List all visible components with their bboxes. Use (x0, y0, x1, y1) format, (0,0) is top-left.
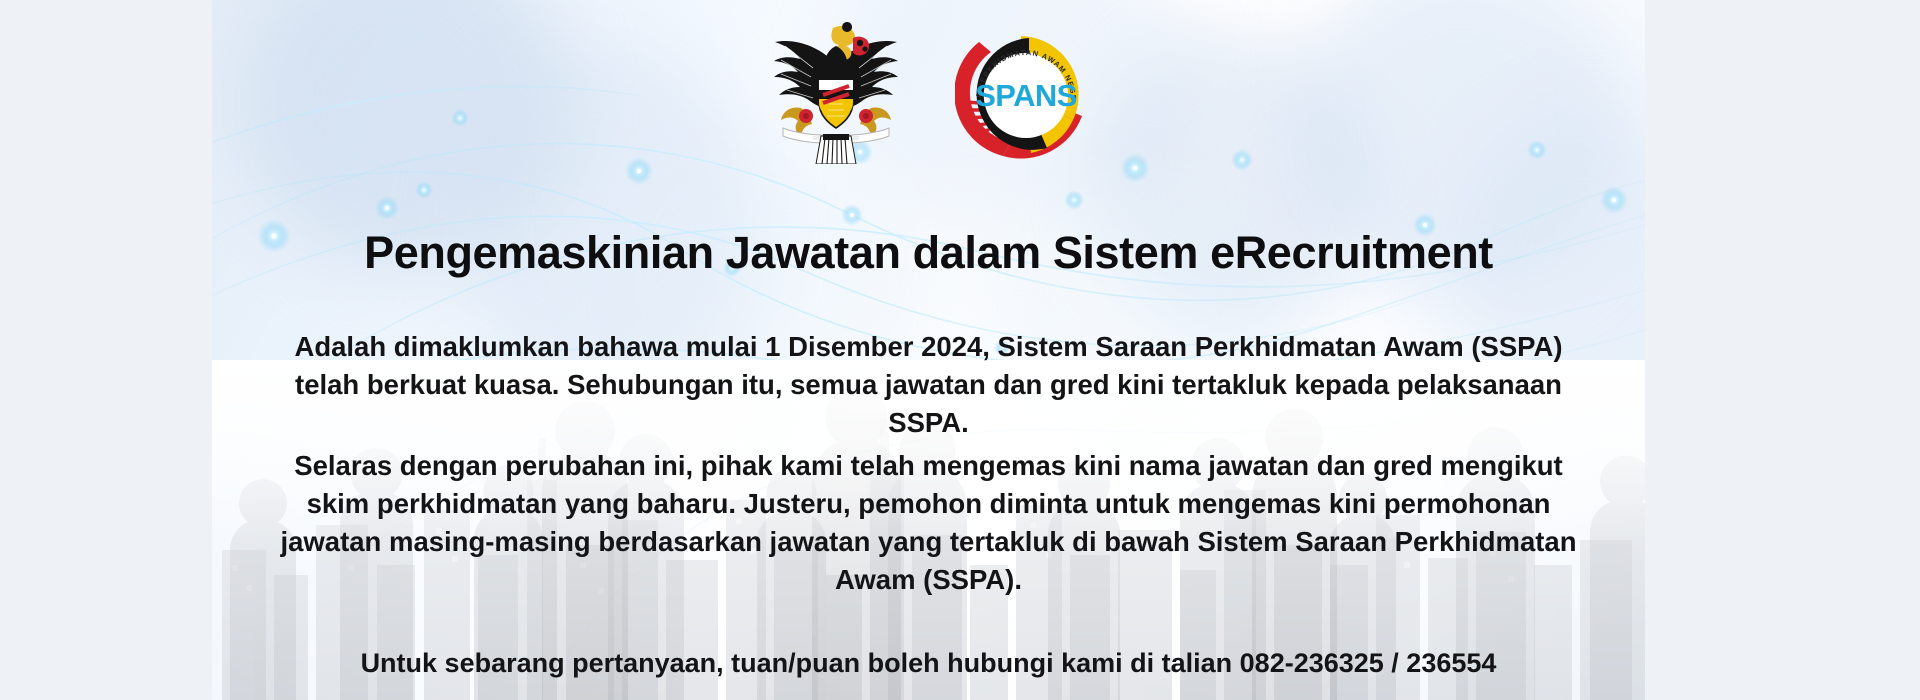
right-margin (1645, 0, 1920, 700)
spans-wordmark: SPANS (975, 78, 1077, 113)
sarawak-state-crest-icon (761, 16, 911, 164)
announcement-banner: SURUHANJAYA PERKHIDMATAN AWAM NEGERI SAR… (212, 0, 1645, 700)
announcement-paragraph-1: Adalah dimaklumkan bahawa mulai 1 Disemb… (264, 328, 1594, 442)
logo-row: SURUHANJAYA PERKHIDMATAN AWAM NEGERI SAR… (212, 16, 1645, 166)
announcement-paragraph-2: Selaras dengan perubahan ini, pihak kami… (264, 447, 1594, 599)
spans-logo-icon: SURUHANJAYA PERKHIDMATAN AWAM NEGERI SAR… (955, 24, 1097, 166)
announcement-page: SURUHANJAYA PERKHIDMATAN AWAM NEGERI SAR… (0, 0, 1920, 700)
left-margin (0, 0, 212, 700)
page-title: Pengemaskinian Jawatan dalam Sistem eRec… (212, 228, 1645, 278)
contact-line: Untuk sebarang pertanyaan, tuan/puan bol… (264, 645, 1594, 682)
